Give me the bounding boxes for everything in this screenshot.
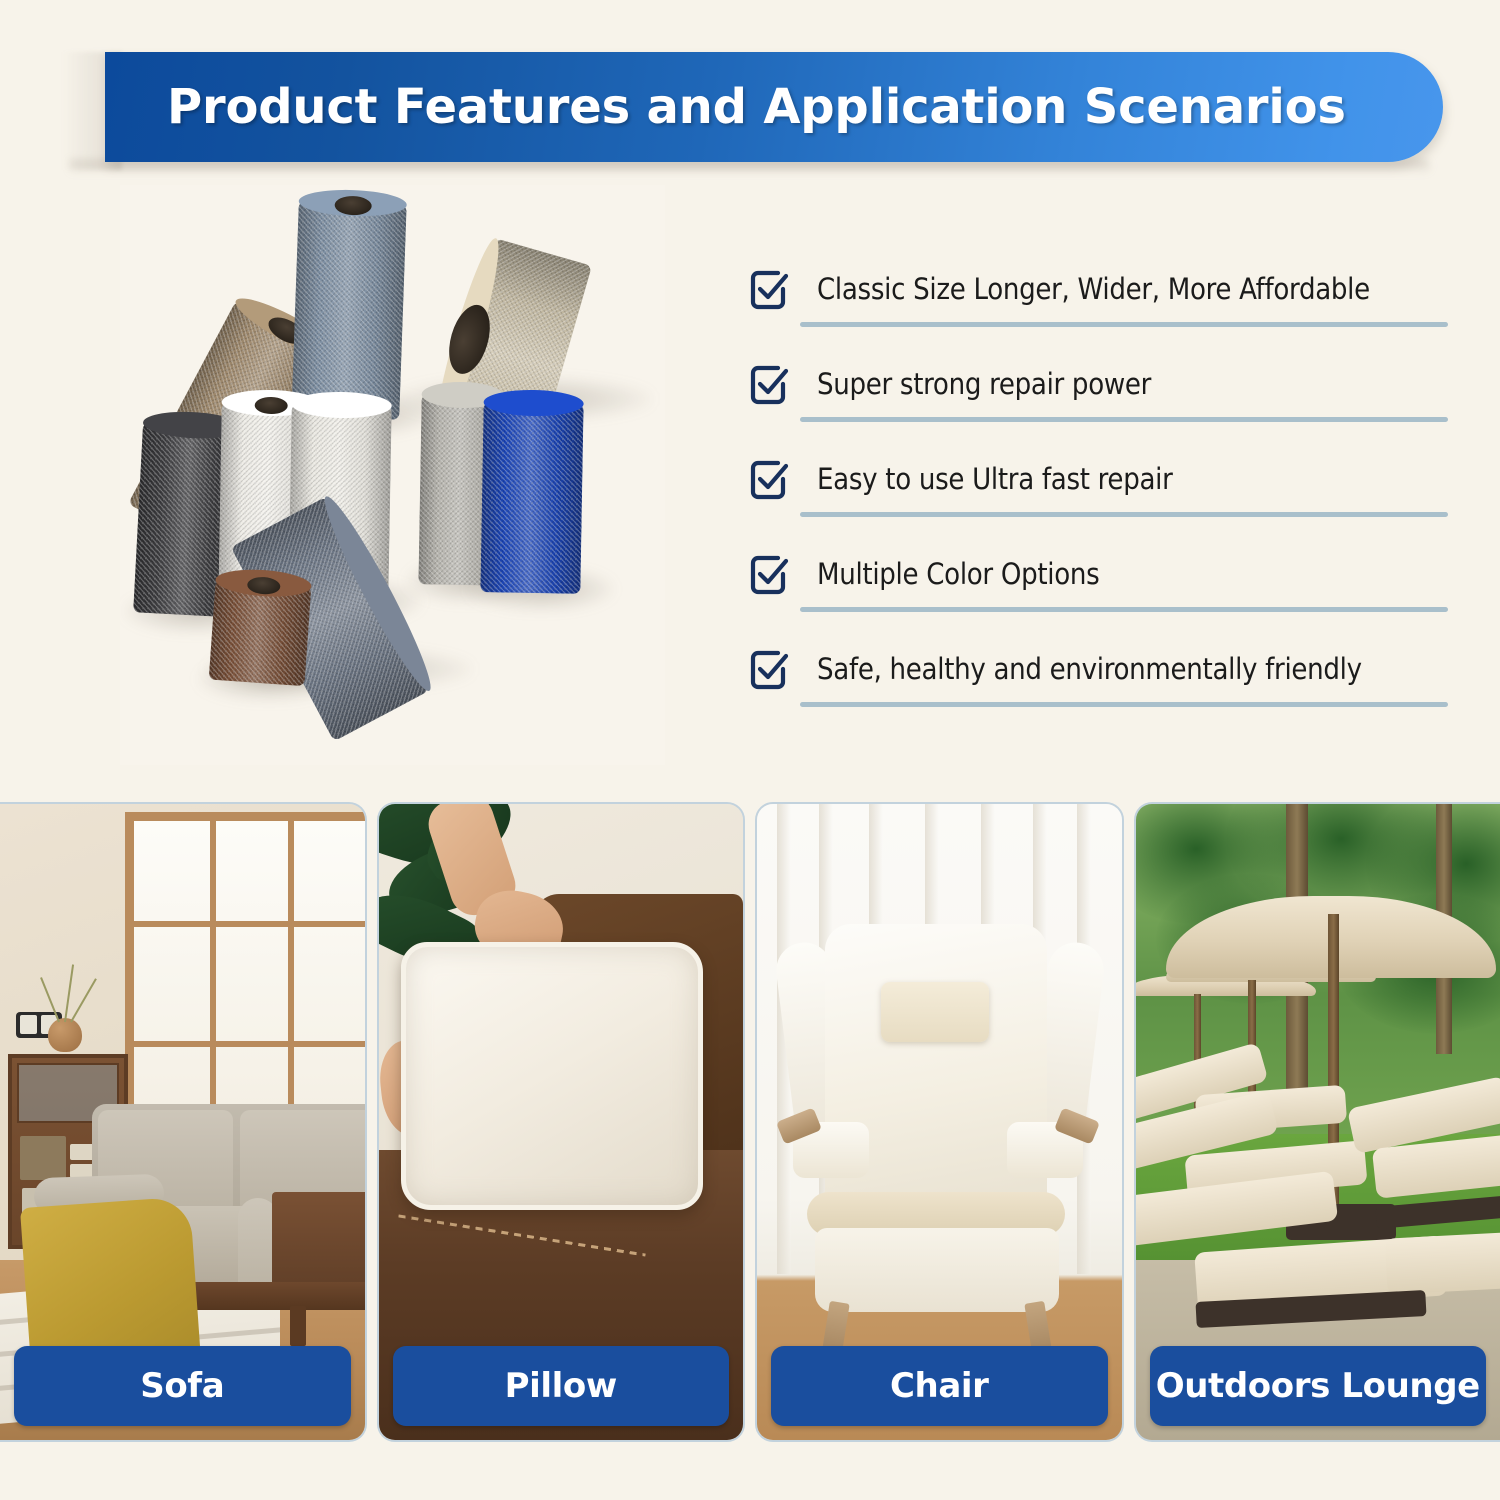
feature-label: Multiple Color Options (817, 557, 1099, 591)
scenario-label-chair[interactable]: Chair (771, 1346, 1108, 1426)
scenario-label-pillow[interactable]: Pillow (393, 1346, 730, 1426)
checkbox-checked-icon (748, 363, 792, 407)
infographic-page: Product Features and Application Scenari… (0, 0, 1500, 1500)
checkbox-checked-icon (748, 648, 792, 692)
feature-divider (800, 702, 1448, 707)
feature-item: Super strong repair power (748, 353, 1448, 448)
tape-roll (480, 402, 583, 594)
chair-scene-image (757, 804, 1122, 1440)
feature-label: Easy to use Ultra fast repair (817, 462, 1173, 496)
feature-divider (800, 322, 1448, 327)
feature-divider (800, 417, 1448, 422)
scenario-card-chair[interactable]: Chair (755, 802, 1124, 1442)
outdoors-lounge-scene-image (1136, 804, 1500, 1440)
product-image-tape-rolls (120, 185, 665, 765)
feature-item: Safe, healthy and environmentally friend… (748, 638, 1448, 733)
checkbox-checked-icon (748, 553, 792, 597)
feature-item: Multiple Color Options (748, 543, 1448, 638)
feature-item: Classic Size Longer, Wider, More Afforda… (748, 258, 1448, 353)
feature-item: Easy to use Ultra fast repair (748, 448, 1448, 543)
header: Product Features and Application Scenari… (0, 0, 1500, 200)
feature-divider (800, 512, 1448, 517)
feature-label: Safe, healthy and environmentally friend… (817, 652, 1362, 686)
sofa-scene-image (0, 804, 365, 1440)
page-title: Product Features and Application Scenari… (167, 79, 1346, 135)
feature-label: Classic Size Longer, Wider, More Afforda… (817, 272, 1370, 306)
header-shadow-bottom (70, 160, 1430, 174)
scenario-card-pillow[interactable]: Pillow (377, 802, 746, 1442)
scenario-card-outdoors-lounge[interactable]: Outdoors Lounge (1134, 802, 1500, 1442)
scenario-cards: Sofa Pillow (0, 802, 1500, 1442)
tape-roll (209, 580, 312, 686)
scenario-card-sofa[interactable]: Sofa (0, 802, 367, 1442)
pillow-scene-image (379, 804, 744, 1440)
checkbox-checked-icon (748, 458, 792, 502)
scenario-label-sofa[interactable]: Sofa (14, 1346, 351, 1426)
header-banner: Product Features and Application Scenari… (105, 52, 1443, 162)
feature-divider (800, 607, 1448, 612)
roll-core (255, 397, 288, 415)
checkbox-checked-icon (748, 268, 792, 312)
feature-label: Super strong repair power (817, 367, 1151, 401)
scenario-label-outdoors-lounge[interactable]: Outdoors Lounge (1150, 1346, 1487, 1426)
tape-roll (291, 201, 406, 420)
feature-list: Classic Size Longer, Wider, More Afforda… (748, 258, 1448, 733)
